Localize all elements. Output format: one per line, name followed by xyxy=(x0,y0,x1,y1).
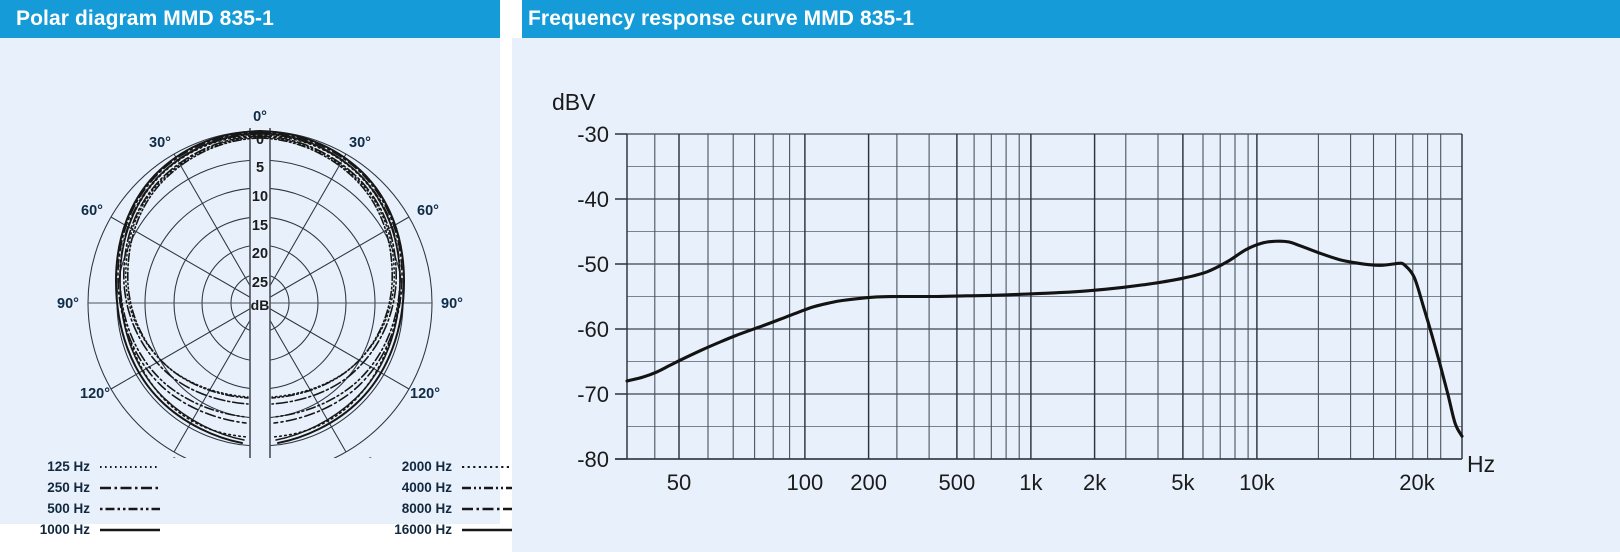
legend-label: 16000 Hz xyxy=(372,522,461,537)
svg-text:30°: 30° xyxy=(349,135,371,151)
header-accent-bar xyxy=(512,0,522,38)
chart-gridlines xyxy=(615,134,1462,459)
y-axis-tick-labels: -30 -40 -50 -60 -70 -80 xyxy=(577,122,609,472)
svg-text:25: 25 xyxy=(252,275,268,291)
polar-center-db-label: dB xyxy=(251,297,270,313)
svg-text:90°: 90° xyxy=(441,296,463,312)
legend-label: 125 Hz xyxy=(16,459,99,474)
polar-panel-body: 0 5 10 15 20 25 dB 0° 30° 60° 90° 120° 1… xyxy=(0,38,500,524)
y-tick-label: -50 xyxy=(577,252,609,277)
y-axis-ticks: -30 -40 -50 -60 -70 -80 xyxy=(577,122,627,472)
frequency-panel-body: dBV Hz xyxy=(512,38,1620,552)
polar-diagram-panel: Polar diagram MMD 835-1 xyxy=(0,0,500,524)
figure-root: Polar diagram MMD 835-1 xyxy=(0,0,1620,552)
svg-text:120°: 120° xyxy=(410,386,440,402)
y-tick-label: -30 xyxy=(577,122,609,147)
x-tick-label: 20k xyxy=(1399,470,1435,495)
x-tick-label: 500 xyxy=(939,470,976,495)
legend-line-dash-dot xyxy=(99,482,161,494)
x-tick-label: 1k xyxy=(1019,470,1043,495)
y-tick-label: -40 xyxy=(577,187,609,212)
x-axis-title: Hz xyxy=(1467,451,1495,477)
svg-text:60°: 60° xyxy=(81,203,103,219)
y-tick-label: -70 xyxy=(577,382,609,407)
y-tick-label: -80 xyxy=(577,447,609,472)
legend-item: 1000 Hz xyxy=(16,519,161,540)
legend-line-dotted xyxy=(99,461,161,473)
frequency-panel-header: Frequency response curve MMD 835-1 xyxy=(512,0,1620,38)
svg-text:30°: 30° xyxy=(149,135,171,151)
frequency-response-plot: dBV Hz xyxy=(512,38,1620,552)
legend-item: 500 Hz xyxy=(16,498,161,519)
svg-text:150°: 150° xyxy=(343,456,373,458)
radial-scale-slot xyxy=(250,128,270,458)
svg-text:0°: 0° xyxy=(253,109,267,125)
legend-item: 125 Hz xyxy=(16,456,161,477)
x-tick-label: 5k xyxy=(1171,470,1195,495)
legend-label: 4000 Hz xyxy=(372,480,461,495)
svg-text:90°: 90° xyxy=(57,296,79,312)
svg-text:120°: 120° xyxy=(80,386,110,402)
x-tick-label: 100 xyxy=(787,470,824,495)
polar-diagram-plot: 0 5 10 15 20 25 dB 0° 30° 60° 90° 120° 1… xyxy=(0,38,500,458)
legend-item: 4000 Hz xyxy=(372,477,523,498)
frequency-panel-title: Frequency response curve MMD 835-1 xyxy=(528,7,914,31)
legend-label: 2000 Hz xyxy=(372,459,461,474)
frequency-response-panel: Frequency response curve MMD 835-1 dBV H… xyxy=(512,0,1620,552)
frequency-response-curve xyxy=(627,241,1462,436)
legend-line-solid xyxy=(99,524,161,536)
polar-legend-left: 125 Hz 250 Hz 500 Hz xyxy=(16,456,161,540)
svg-text:10: 10 xyxy=(252,189,268,205)
x-tick-label: 200 xyxy=(850,470,887,495)
legend-item: 250 Hz xyxy=(16,477,161,498)
svg-text:60°: 60° xyxy=(417,203,439,219)
y-tick-label: -60 xyxy=(577,317,609,342)
svg-text:15: 15 xyxy=(252,218,268,234)
x-tick-label: 50 xyxy=(667,470,691,495)
legend-label: 500 Hz xyxy=(16,501,99,516)
legend-line-dash-dot-dot xyxy=(99,503,161,515)
legend-item: 8000 Hz xyxy=(372,498,523,519)
legend-item: 16000 Hz xyxy=(372,519,523,540)
legend-label: 1000 Hz xyxy=(16,522,99,537)
legend-item: 2000 Hz xyxy=(372,456,523,477)
x-tick-label: 2k xyxy=(1083,470,1107,495)
polar-panel-header: Polar diagram MMD 835-1 xyxy=(0,0,500,38)
svg-text:5: 5 xyxy=(256,160,264,176)
legend-label: 8000 Hz xyxy=(372,501,461,516)
polar-legend-right: 2000 Hz 4000 Hz 8000 Hz xyxy=(372,456,523,540)
y-axis-title: dBV xyxy=(552,89,596,115)
x-tick-label: 10k xyxy=(1239,470,1275,495)
svg-text:20: 20 xyxy=(252,246,268,262)
x-axis-tick-labels: 50 100 200 500 1k 2k 5k 10k 20k xyxy=(667,470,1436,495)
legend-label: 250 Hz xyxy=(16,480,99,495)
polar-panel-title: Polar diagram MMD 835-1 xyxy=(16,7,274,31)
